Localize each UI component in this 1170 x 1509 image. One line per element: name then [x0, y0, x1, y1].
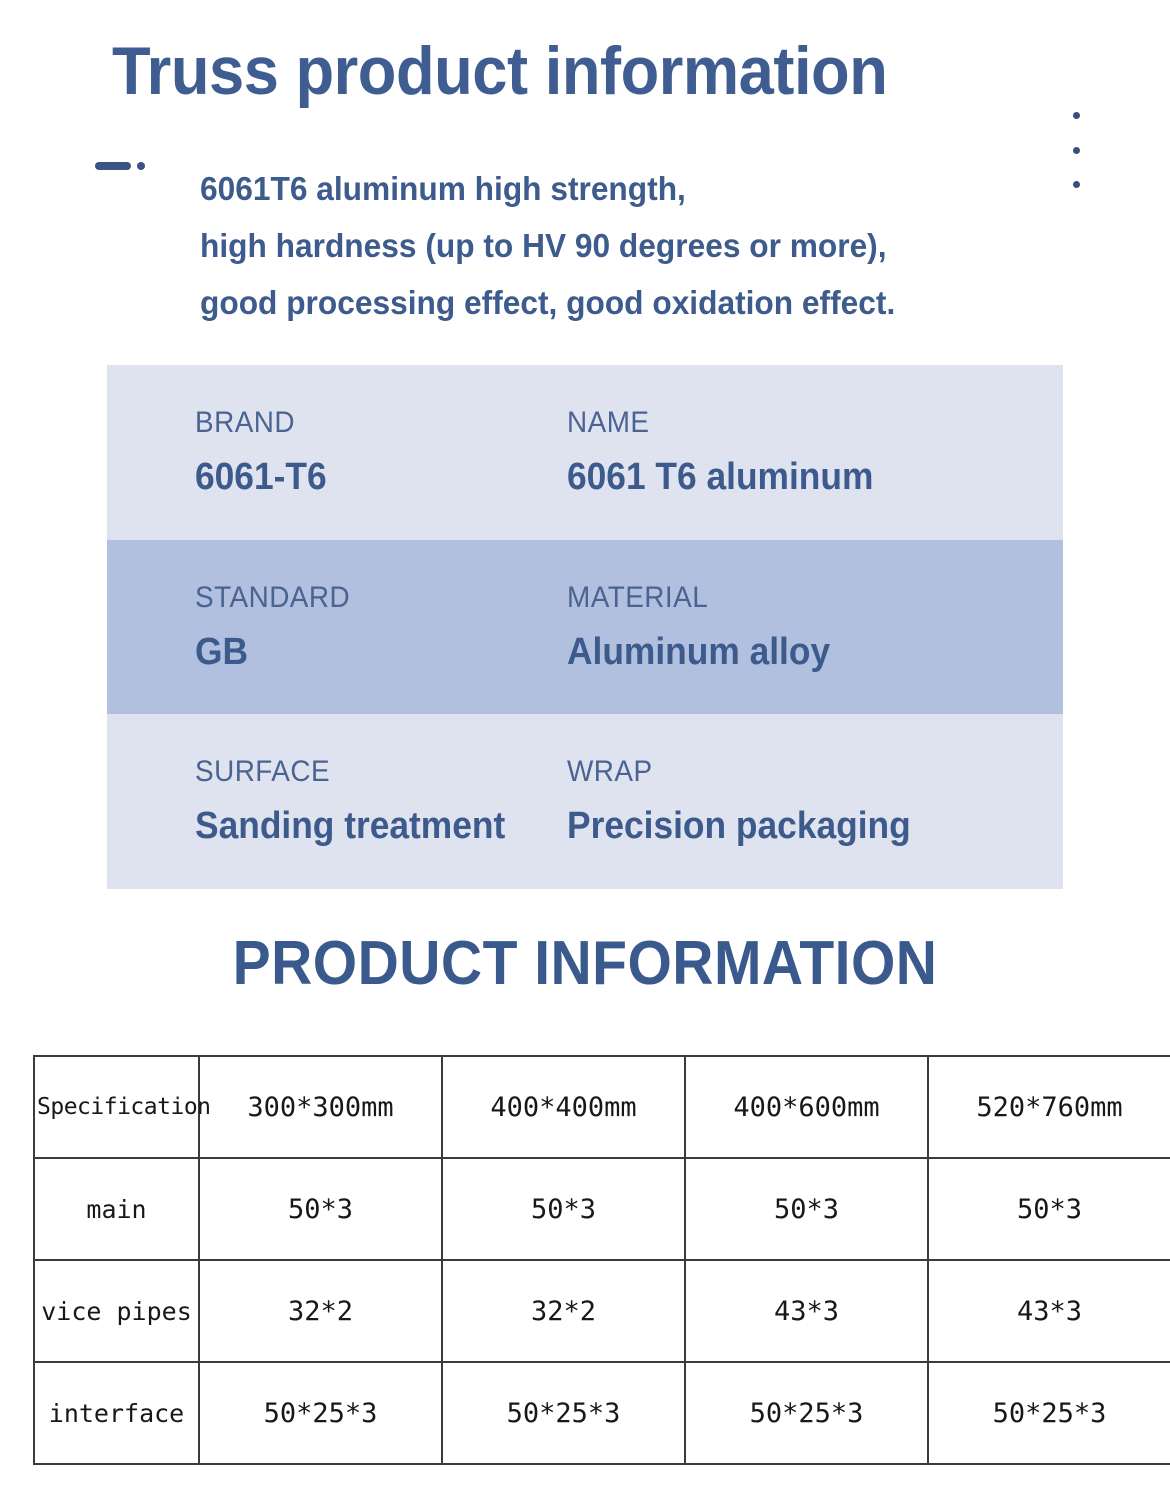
spec-value-standard: GB: [195, 631, 541, 674]
spec-cell-wrap: WRAP Precision packaging: [567, 755, 1047, 848]
table-cell-vice-pipes-4: 43*3: [928, 1260, 1170, 1362]
product-specification-table: Specification 300*300mm 400*400mm 400*60…: [33, 1055, 1170, 1465]
dot-icon: [1073, 147, 1080, 154]
table-header-size-4: 520*760mm: [928, 1056, 1170, 1158]
spec-key-brand: BRAND: [195, 406, 541, 440]
spec-key-surface: SURFACE: [195, 755, 541, 789]
table-cell-vice-pipes-3: 43*3: [685, 1260, 928, 1362]
spec-cell-surface: SURFACE Sanding treatment: [195, 755, 567, 848]
spec-row-standard-material: STANDARD GB MATERIAL Aluminum alloy: [107, 540, 1063, 715]
page-title: Truss product information: [112, 36, 887, 107]
spec-key-standard: STANDARD: [195, 581, 541, 615]
table-cell-vice-pipes-1: 32*2: [199, 1260, 442, 1362]
description-line-2: high hardness (up to HV 90 degrees or mo…: [200, 217, 1026, 274]
dash-dot-bullet-icon: [95, 162, 145, 170]
spec-value-brand: 6061-T6: [195, 456, 541, 499]
dot-icon: [1073, 181, 1080, 188]
spec-key-name: NAME: [567, 406, 1013, 440]
spec-cell-material: MATERIAL Aluminum alloy: [567, 581, 1047, 674]
table-cell-main-3: 50*3: [685, 1158, 928, 1260]
table-header-size-1: 300*300mm: [199, 1056, 442, 1158]
table-cell-main-4: 50*3: [928, 1158, 1170, 1260]
table-cell-interface-3: 50*25*3: [685, 1362, 928, 1464]
table-row: vice pipes 32*2 32*2 43*3 43*3: [34, 1260, 1170, 1362]
dash-icon: [95, 162, 131, 170]
table-rowlabel-vice-pipes: vice pipes: [34, 1260, 199, 1362]
section-heading-product-information: PRODUCT INFORMATION: [0, 928, 1170, 999]
specification-box: BRAND 6061-T6 NAME 6061 T6 aluminum STAN…: [107, 365, 1063, 889]
spec-row-brand-name: BRAND 6061-T6 NAME 6061 T6 aluminum: [107, 365, 1063, 540]
table-header-size-2: 400*400mm: [442, 1056, 685, 1158]
table-cell-interface-2: 50*25*3: [442, 1362, 685, 1464]
table-rowlabel-interface: interface: [34, 1362, 199, 1464]
table-row: main 50*3 50*3 50*3 50*3: [34, 1158, 1170, 1260]
spec-cell-name: NAME 6061 T6 aluminum: [567, 406, 1047, 499]
table-header-specification: Specification: [34, 1056, 199, 1158]
spec-value-surface: Sanding treatment: [195, 805, 541, 848]
description-line-3: good processing effect, good oxidation e…: [200, 274, 1026, 331]
table-header-size-3: 400*600mm: [685, 1056, 928, 1158]
spec-value-material: Aluminum alloy: [567, 631, 1013, 674]
spec-key-material: MATERIAL: [567, 581, 1013, 615]
dot-icon: [137, 162, 145, 170]
table-row: interface 50*25*3 50*25*3 50*25*3 50*25*…: [34, 1362, 1170, 1464]
three-dots-decoration-icon: [1071, 112, 1081, 188]
table-cell-vice-pipes-2: 32*2: [442, 1260, 685, 1362]
table-cell-main-2: 50*3: [442, 1158, 685, 1260]
table-cell-main-1: 50*3: [199, 1158, 442, 1260]
section-heading-text: PRODUCT INFORMATION: [233, 928, 938, 999]
spec-cell-standard: STANDARD GB: [195, 581, 567, 674]
dot-icon: [1073, 112, 1080, 119]
description-line-1: 6061T6 aluminum high strength,: [200, 160, 1026, 217]
spec-row-surface-wrap: SURFACE Sanding treatment WRAP Precision…: [107, 714, 1063, 889]
product-description: 6061T6 aluminum high strength, high hard…: [200, 160, 1026, 331]
table-cell-interface-1: 50*25*3: [199, 1362, 442, 1464]
spec-key-wrap: WRAP: [567, 755, 1013, 789]
table-row-header: Specification 300*300mm 400*400mm 400*60…: [34, 1056, 1170, 1158]
spec-cell-brand: BRAND 6061-T6: [195, 406, 567, 499]
table-cell-interface-4: 50*25*3: [928, 1362, 1170, 1464]
spec-value-wrap: Precision packaging: [567, 805, 1013, 848]
spec-value-name: 6061 T6 aluminum: [567, 456, 1013, 499]
table-rowlabel-main: main: [34, 1158, 199, 1260]
